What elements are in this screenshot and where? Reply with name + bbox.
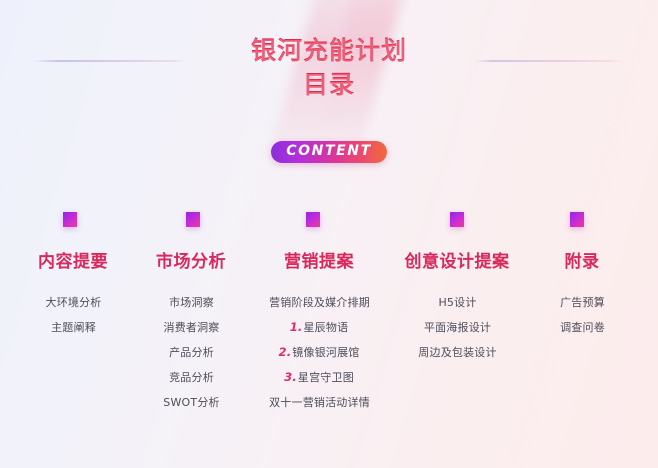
toc-columns: 内容提要 大环境分析 主题阐释 市场分析 市场洞察 消费者洞察 产品分析 竞品分… (14, 212, 648, 415)
toc-column-heading[interactable]: 创意设计提案 (405, 251, 510, 273)
item-label: 竞品分析 (169, 371, 214, 384)
toc-column-items: 广告预算 调查问卷 (526, 290, 638, 340)
marker-row (526, 212, 638, 227)
list-item[interactable]: 产品分析 (132, 340, 250, 365)
square-marker-icon (306, 212, 320, 227)
list-item[interactable]: 广告预算 (526, 290, 638, 315)
marker-row (14, 212, 132, 227)
list-item[interactable]: 消费者洞察 (132, 315, 250, 340)
toc-column-heading[interactable]: 内容提要 (38, 251, 108, 273)
item-label: 星宫守卫图 (298, 371, 354, 384)
list-item[interactable]: 周边及包装设计 (388, 340, 526, 365)
item-label: 周边及包装设计 (418, 346, 496, 359)
item-label: 调查问卷 (560, 321, 605, 334)
item-label: SWOT分析 (163, 396, 219, 409)
toc-column-heading[interactable]: 附录 (565, 251, 600, 273)
marker-row (388, 212, 526, 227)
item-label: 产品分析 (169, 346, 214, 359)
square-marker-icon (570, 212, 584, 227)
list-item[interactable]: 主题阐释 (14, 315, 132, 340)
item-label: 星辰物语 (303, 321, 348, 334)
item-label: 广告预算 (560, 296, 605, 309)
toc-column-3: 营销提案 营销阶段及媒介排期 1.星辰物语 2.镜像银河展馆 3.星宫守卫图 双… (250, 212, 388, 415)
item-label: 双十一营销活动详情 (269, 396, 370, 409)
content-badge: CONTENT (271, 141, 386, 163)
item-label: 镜像银河展馆 (292, 346, 359, 359)
item-label: 营销阶段及媒介排期 (269, 296, 370, 309)
toc-column-items: 营销阶段及媒介排期 1.星辰物语 2.镜像银河展馆 3.星宫守卫图 双十一营销活… (250, 290, 388, 415)
list-item[interactable]: 调查问卷 (526, 315, 638, 340)
item-label: 大环境分析 (46, 296, 102, 309)
slide-title-line-2: 目录 (0, 70, 658, 100)
list-item[interactable]: 平面海报设计 (388, 315, 526, 340)
toc-column-2: 市场分析 市场洞察 消费者洞察 产品分析 竞品分析 SWOT分析 (132, 212, 250, 415)
list-item[interactable]: 1.星辰物语 (250, 315, 388, 340)
toc-column-4: 创意设计提案 H5设计 平面海报设计 周边及包装设计 (388, 212, 526, 365)
slide-canvas: 银河充能计划 目录 CONTENT 内容提要 大环境分析 主题阐释 市场分析 市… (0, 0, 658, 468)
list-item[interactable]: H5设计 (388, 290, 526, 315)
toc-column-heading[interactable]: 市场分析 (156, 251, 226, 273)
list-item[interactable]: 市场洞察 (132, 290, 250, 315)
item-label: 平面海报设计 (424, 321, 491, 334)
square-marker-icon (63, 212, 77, 227)
list-item[interactable]: 营销阶段及媒介排期 (250, 290, 388, 315)
toc-column-1: 内容提要 大环境分析 主题阐释 (14, 212, 132, 340)
content-badge-wrapper: CONTENT (0, 141, 658, 163)
list-item[interactable]: SWOT分析 (132, 390, 250, 415)
toc-column-heading[interactable]: 营销提案 (284, 251, 354, 273)
item-number: 3. (284, 370, 297, 384)
title-block: 银河充能计划 目录 (0, 36, 658, 100)
list-item[interactable]: 大环境分析 (14, 290, 132, 315)
square-marker-icon (186, 212, 200, 227)
item-number: 1. (290, 320, 303, 334)
item-label: 主题阐释 (51, 321, 96, 334)
list-item[interactable]: 3.星宫守卫图 (250, 365, 388, 390)
toc-column-items: 市场洞察 消费者洞察 产品分析 竞品分析 SWOT分析 (132, 290, 250, 415)
list-item[interactable]: 2.镜像银河展馆 (250, 340, 388, 365)
toc-column-items: H5设计 平面海报设计 周边及包装设计 (388, 290, 526, 365)
item-number: 2. (279, 345, 292, 359)
item-label: 消费者洞察 (164, 321, 220, 334)
square-marker-icon (450, 212, 464, 227)
list-item[interactable]: 竞品分析 (132, 365, 250, 390)
marker-row (132, 212, 250, 227)
slide-title-line-1: 银河充能计划 (0, 36, 658, 66)
item-label: H5设计 (438, 296, 476, 309)
marker-row (250, 212, 388, 227)
list-item[interactable]: 双十一营销活动详情 (250, 390, 388, 415)
toc-column-5: 附录 广告预算 调查问卷 (526, 212, 638, 340)
item-label: 市场洞察 (169, 296, 214, 309)
toc-column-items: 大环境分析 主题阐释 (14, 290, 132, 340)
